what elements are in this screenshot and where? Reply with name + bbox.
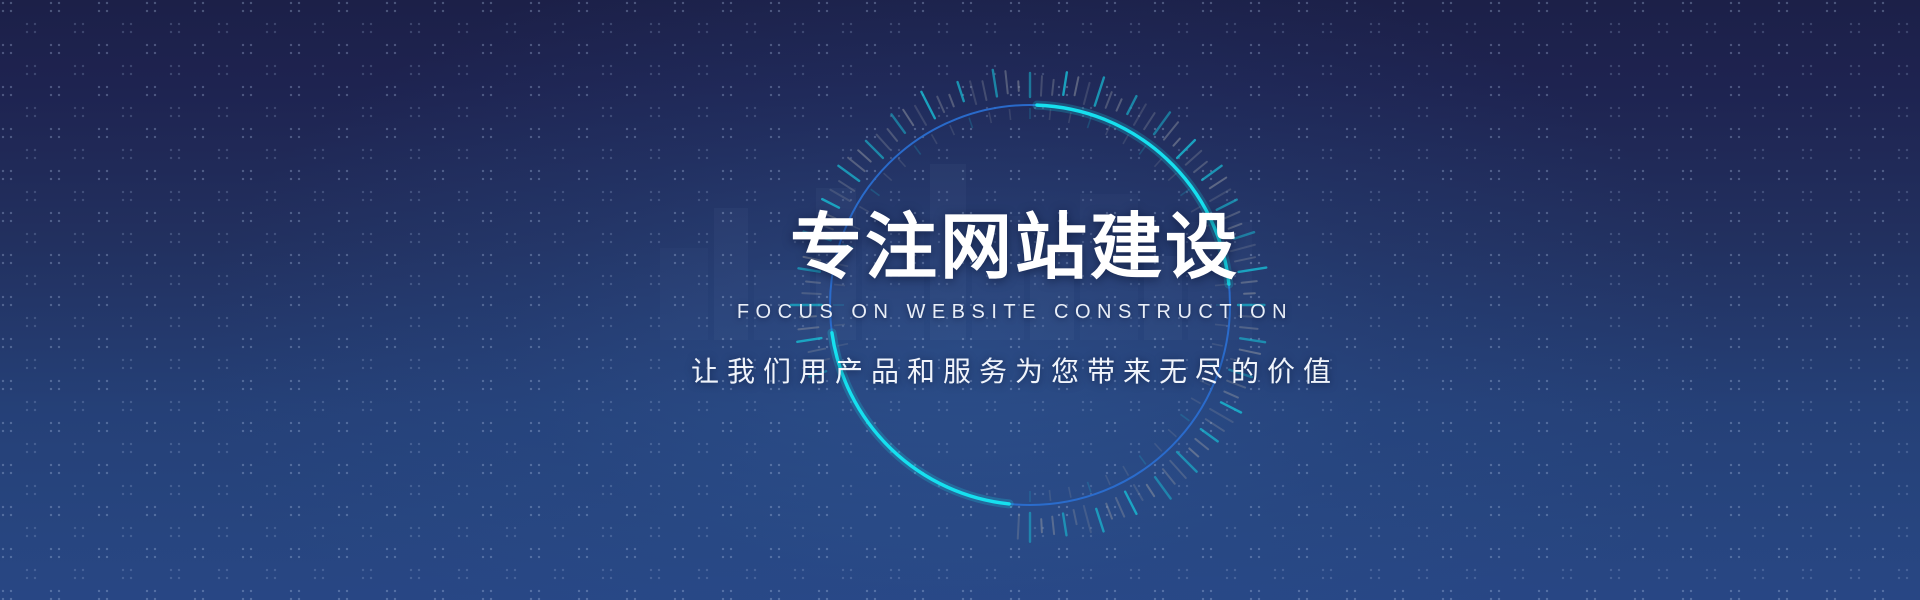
banner-subtitle: FOCUS ON WEBSITE CONSTRUCTION — [737, 301, 1293, 324]
banner-tagline: 让我们用产品和服务为您带来无尽的价值 — [691, 350, 1339, 390]
banner-content: 专注网站建设 FOCUS ON WEBSITE CONSTRUCTION 让我们… — [0, 0, 1920, 600]
banner-title: 专注网站建设 — [790, 210, 1240, 286]
hero-banner: 专注网站建设 FOCUS ON WEBSITE CONSTRUCTION 让我们… — [0, 0, 1920, 600]
